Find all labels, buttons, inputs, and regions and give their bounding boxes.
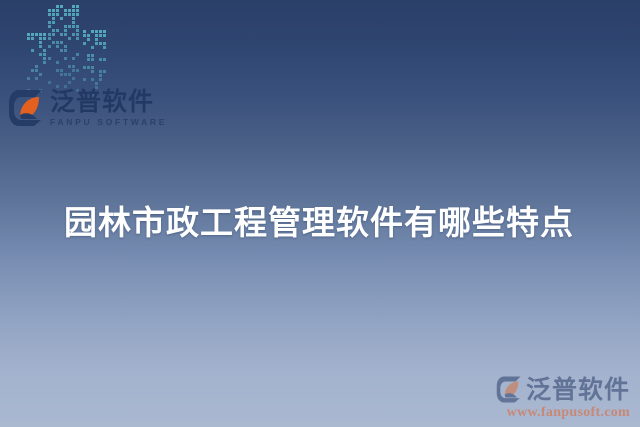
skyline-pixel [48,81,51,84]
fanpu-watermark-icon [496,375,522,404]
brand-name-en: FANPU SOFTWARE [50,118,167,127]
skyline-pixel [52,13,55,16]
skyline-pixel [99,34,102,37]
skyline-pixel [68,13,71,16]
skyline-pixel [64,29,67,32]
skyline-pixel [91,58,94,61]
skyline-pixel [48,33,51,36]
skyline-pixel [56,9,59,12]
skyline-pixel [48,13,51,16]
skyline-pixel [91,46,94,49]
brand-logo: 泛普软件 FANPU SOFTWARE [8,88,167,128]
skyline-pixel [60,69,63,72]
skyline-pixel [56,5,59,8]
fanpu-logo-icon [8,88,44,128]
skyline-pixel [48,57,51,60]
skyline-pixel [72,5,75,8]
skyline-pixel [35,33,38,36]
skyline-pixel [48,45,51,48]
skyline-pixel [91,78,94,81]
skyline-pixel [83,42,86,45]
skyline-pixel [99,30,102,33]
promo-banner: 泛普软件 FANPU SOFTWARE 园林市政工程管理软件有哪些特点 泛普软件… [0,0,640,427]
skyline-pixel [87,34,90,37]
skyline-pixel [27,33,30,36]
page-title: 园林市政工程管理软件有哪些特点 [64,196,574,244]
skyline-pixel [48,9,51,12]
skyline-pixel [72,57,75,60]
skyline-pixel [91,30,94,33]
skyline-pixel [52,33,55,36]
skyline-pixel [76,5,79,8]
skyline-pixel [99,58,102,61]
skyline-pixel [83,66,86,69]
skyline-pixel [76,37,79,40]
skyline-pixel [103,34,106,37]
skyline-pixel [72,77,75,80]
skyline-pixel [27,37,30,40]
skyline-pixel [52,17,55,20]
skyline-pixel [87,38,90,41]
skyline-pixel [60,17,63,20]
brand-name-cn: 泛普软件 [50,89,167,115]
watermark-logo-row: 泛普软件 [496,375,630,404]
skyline-pixel [56,29,59,32]
skyline-pixel [64,33,67,36]
skyline-pixel [52,9,55,12]
skyline-pixel [39,73,42,76]
skyline-pixel [31,69,34,72]
skyline-pixel [39,37,42,40]
skyline-pixel [72,65,75,68]
skyline-pixel [43,53,46,56]
skyline-pixel [52,41,55,44]
skyline-pixel [91,54,94,57]
skyline-pixel [83,34,86,37]
skyline-pixel [68,81,71,84]
skyline-pixel [48,21,51,24]
skyline-pixel [52,29,55,32]
skyline-pixel [76,33,79,36]
skyline-pixel [95,38,98,41]
skyline-pixel [56,41,59,44]
skyline-pixel [43,49,46,52]
skyline-pixel [103,46,106,49]
skyline-pixel [72,69,75,72]
skyline-pixel [103,42,106,45]
skyline-pixel [64,25,67,28]
skyline-pixel [35,65,38,68]
skyline-pixel [48,37,51,40]
skyline-pixel [76,69,79,72]
skyline-pixel [43,61,46,64]
skyline-pixel [87,58,90,61]
skyline-pixel [64,9,67,12]
skyline-pixel [68,73,71,76]
skyline-pixel [35,69,38,72]
skyline-pixel [99,78,102,81]
skyline-pixel [60,49,63,52]
skyline-pixel [95,34,98,37]
skyline-pixel [43,57,46,60]
skyline-pixel [64,13,67,16]
skyline-pixel [64,49,67,52]
skyline-pixel [68,37,71,40]
skyline-pixel [39,33,42,36]
skyline-pixel [31,49,34,52]
skyline-pixel [72,9,75,12]
watermark: 泛普软件 www.fanpusoft.com [496,375,630,421]
skyline-pixel [99,70,102,73]
skyline-pixel [99,42,102,45]
skyline-pixel [76,13,79,16]
tower-center [48,5,80,93]
skyline-pixel [103,58,106,61]
skyline-pixel [48,25,51,28]
skyline-pixel [72,13,75,16]
skyline-pixel [72,17,75,20]
skyline-pixel [99,74,102,77]
skyline-pixel [60,33,63,36]
skyline-pixel [68,65,71,68]
skyline-pixel [76,29,79,32]
skyline-pixel [43,37,46,40]
skyline-pixel [83,30,86,33]
skyline-pixel [72,25,75,28]
skyline-pixel [68,9,71,12]
skyline-pixel [27,77,30,80]
skyline-pixel [56,45,59,48]
skyline-pixel [72,21,75,24]
skyline-pixel [64,57,67,60]
skyline-pixel [35,77,38,80]
skyline-pixel [76,53,79,56]
skyline-pixel [83,78,86,81]
skyline-pixel [64,73,67,76]
skyline-pixel [103,30,106,33]
skyline-pixel [64,45,67,48]
skyline-pixel [68,25,71,28]
skyline-pixel [72,33,75,36]
skyline-pixel [56,61,59,64]
skyline-pixel [87,66,90,69]
skyline-pixel [95,42,98,45]
skyline-pixel [60,41,63,44]
skyline-pixel [43,33,46,36]
skyline-pixel [31,37,34,40]
skyline-pixel [76,9,79,12]
skyline-pixel [56,13,59,16]
skyline-pixel [39,53,42,56]
skyline-pixel [39,41,42,44]
skyline-pixel [60,5,63,8]
skyline-pixel [95,30,98,33]
skyline-pixel [31,33,34,36]
skyline-pixel [52,21,55,24]
skyline-pixel [95,82,98,85]
skyline-pixel [39,45,42,48]
skyline-pixel [87,54,90,57]
skyline-pixel [103,70,106,73]
brand-wordmark: 泛普软件 FANPU SOFTWARE [50,89,167,127]
skyline-pixel [56,69,59,72]
watermark-url: www.fanpusoft.com [496,405,630,421]
skyline-pixel [60,73,63,76]
skyline-pixel [76,25,79,28]
skyline-pixel [91,70,94,73]
skyline-pixel [91,66,94,69]
watermark-brand-name: 泛普软件 [526,377,630,402]
